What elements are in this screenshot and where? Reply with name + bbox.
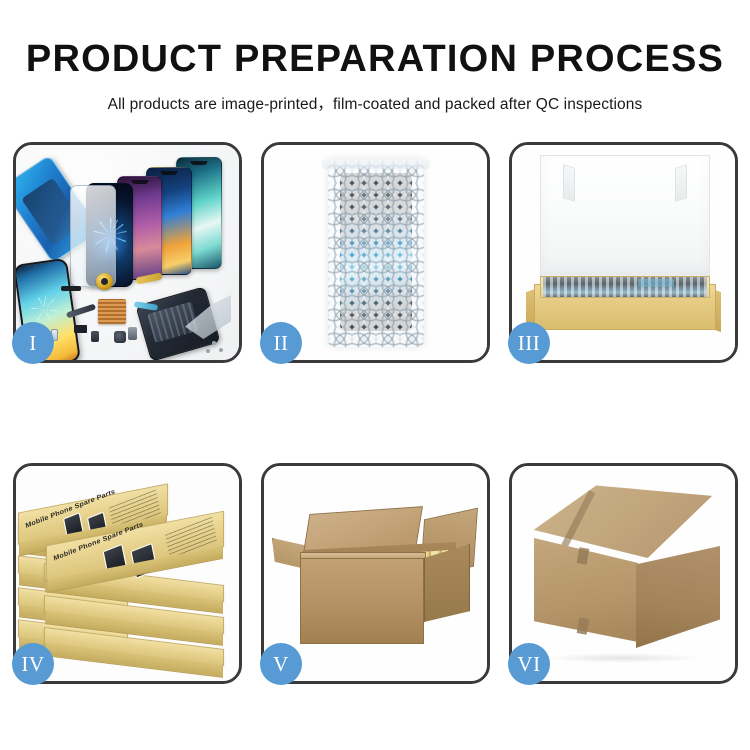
bubble-wrap-pouch-icon (328, 159, 424, 347)
step-2-image (264, 145, 487, 360)
copper-shield-icon (98, 299, 126, 324)
screw-icon (212, 341, 216, 345)
ic-chip-icon (74, 325, 87, 333)
page-subtitle: All products are image-printed，film-coat… (0, 78, 750, 114)
process-step-panel-1[interactable]: I (13, 142, 242, 363)
carton-seam-bottom-icon (577, 617, 590, 634)
screw-icon (206, 349, 210, 353)
page-title: PRODUCT PREPARATION PROCESS (0, 0, 750, 78)
pouch-seal-icon (322, 159, 430, 169)
component-bar-icon (61, 286, 81, 291)
capacitor-icon (91, 331, 99, 342)
header: PRODUCT PREPARATION PROCESS All products… (0, 0, 750, 114)
packed-screens-icon (543, 277, 707, 297)
lid-flap-right-icon (675, 164, 687, 201)
step-3-image (512, 145, 735, 360)
step-badge-6: VI (508, 643, 550, 685)
lid-flap-left-icon (563, 164, 575, 201)
camera-module-icon (114, 331, 126, 343)
process-step-panel-3[interactable]: III (509, 142, 738, 363)
process-step-panel-5[interactable]: V (261, 463, 490, 684)
sealed-carton-side-icon (636, 546, 720, 648)
process-step-panel-6[interactable]: VI (509, 463, 738, 684)
step-6-image (512, 466, 735, 681)
step-badge-2: II (260, 322, 302, 364)
screw-icon (219, 348, 223, 352)
speaker-coil-icon (96, 273, 113, 290)
step-4-image: Mobile Phone Spare Parts Mobile Phone Sp… (16, 466, 239, 681)
tempered-glass-protector-icon (70, 185, 116, 287)
battery-connector-icon (128, 327, 137, 340)
box-stack-icon: Mobile Phone Spare Parts Mobile Phone Sp… (16, 466, 239, 681)
step-badge-4: IV (12, 643, 54, 685)
mailer-box-lid-icon (540, 155, 710, 277)
carton-body-icon (300, 558, 424, 644)
carton-shadow (542, 653, 702, 663)
process-step-panel-4[interactable]: Mobile Phone Spare Parts Mobile Phone Sp… (13, 463, 242, 684)
product-preparation-infographic: PRODUCT PREPARATION PROCESS All products… (0, 0, 750, 750)
step-badge-1: I (12, 322, 54, 364)
step-badge-3: III (508, 322, 550, 364)
step-1-image (16, 145, 239, 360)
step-5-image (264, 466, 487, 681)
process-step-grid: I II (13, 142, 739, 687)
process-step-panel-2[interactable]: II (261, 142, 490, 363)
step-badge-5: V (260, 643, 302, 685)
bubble-outline-icon (328, 159, 424, 347)
